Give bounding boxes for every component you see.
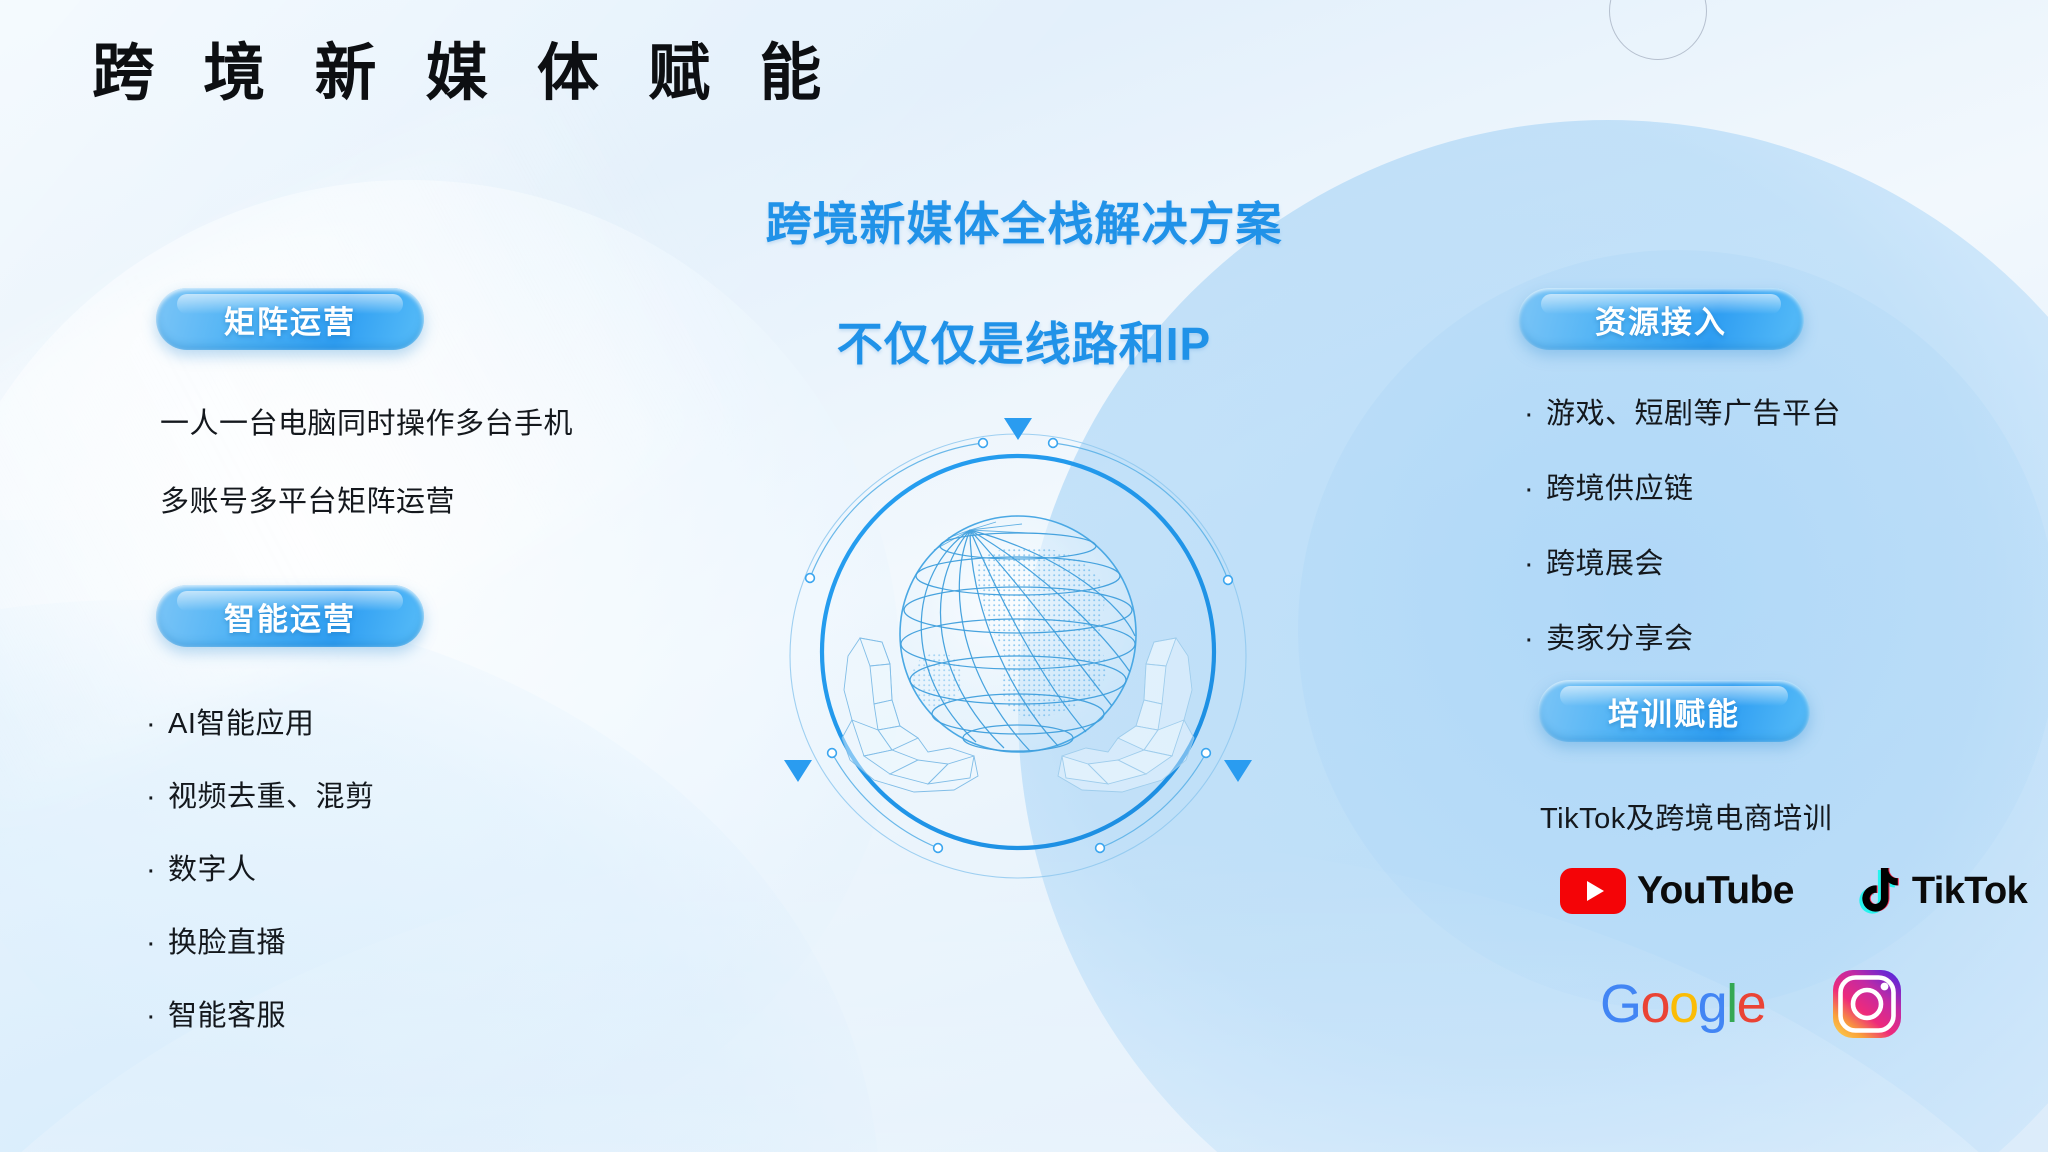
bullet-dot-icon: ·	[146, 856, 168, 885]
list-item: · 视频去重、混剪	[146, 773, 375, 815]
matrix-text-line-1: 一人一台电脑同时操作多台手机	[160, 400, 573, 442]
bullet-dot-icon: ·	[146, 1002, 168, 1031]
youtube-wordmark: YouTube	[1637, 869, 1794, 913]
list-item-label: 智能客服	[168, 992, 286, 1034]
resource-access-bullet-list: · 游戏、短剧等广告平台 · 跨境供应链 · 跨境展会 · 卖家分享会	[1524, 390, 1841, 690]
bullet-dot-icon: ·	[1524, 625, 1546, 654]
list-item: · 数字人	[146, 846, 375, 888]
bullet-dot-icon: ·	[146, 783, 168, 812]
training-text-line: TikTok及跨境电商培训	[1540, 795, 1832, 837]
bottom-left-arc	[0, 600, 880, 1152]
google-letter-4: g	[1698, 973, 1727, 1035]
list-item-label: 游戏、短剧等广告平台	[1546, 390, 1841, 432]
google-letter-5: l	[1726, 973, 1737, 1035]
list-item: · AI智能应用	[146, 700, 375, 742]
instagram-camera-icon	[1831, 968, 1903, 1040]
badge-training-empowerment[interactable]: 培训赋能	[1538, 680, 1810, 742]
badge-resource-access[interactable]: 资源接入	[1518, 288, 1804, 350]
brand-logo-row-top: YouTube TikTok	[1560, 866, 2027, 916]
list-item: · 换脸直播	[146, 919, 375, 961]
instagram-logo[interactable]	[1831, 968, 1903, 1040]
brand-logo-row-bottom: G o o g l e	[1600, 968, 1903, 1040]
youtube-logo[interactable]: YouTube	[1560, 868, 1794, 914]
list-item: · 跨境供应链	[1524, 465, 1841, 507]
youtube-play-icon	[1560, 868, 1626, 914]
bullet-dot-icon: ·	[1524, 550, 1546, 579]
list-item-label: 视频去重、混剪	[168, 773, 375, 815]
tiktok-logo[interactable]: TikTok	[1858, 866, 2027, 916]
bullet-dot-icon: ·	[146, 710, 168, 739]
bullet-dot-icon: ·	[1524, 400, 1546, 429]
google-letter-1: G	[1600, 973, 1641, 1035]
list-item: · 跨境展会	[1524, 540, 1841, 582]
list-item-label: 卖家分享会	[1546, 615, 1694, 657]
badge-label: 培训赋能	[1608, 689, 1740, 734]
decorative-ring-icon	[1609, 0, 1707, 60]
list-item-label: 跨境供应链	[1546, 465, 1694, 507]
slide-canvas: 跨 境 新 媒 体 赋 能 跨境新媒体全栈解决方案 不仅仅是线路和IP	[0, 0, 2048, 1152]
bullet-dot-icon: ·	[1524, 475, 1546, 504]
list-item-label: AI智能应用	[168, 700, 314, 742]
tiktok-wordmark: TikTok	[1912, 870, 2027, 913]
google-logo[interactable]: G o o g l e	[1600, 973, 1765, 1035]
google-letter-3: o	[1669, 973, 1698, 1035]
list-item-label: 数字人	[168, 846, 257, 888]
page-title: 跨 境 新 媒 体 赋 能	[92, 40, 837, 108]
list-item: · 智能客服	[146, 992, 375, 1034]
google-letter-2: o	[1641, 973, 1670, 1035]
center-heading-primary: 跨境新媒体全栈解决方案	[0, 188, 2048, 254]
list-item: · 游戏、短剧等广告平台	[1524, 390, 1841, 432]
smart-operations-bullet-list: · AI智能应用 · 视频去重、混剪 · 数字人 · 换脸直播 · 智能客服	[146, 700, 375, 1065]
tiktok-note-icon	[1858, 866, 1904, 916]
badge-smart-operations[interactable]: 智能运营	[156, 585, 424, 647]
matrix-text-line-2: 多账号多平台矩阵运营	[160, 478, 455, 520]
badge-matrix-operations[interactable]: 矩阵运营	[156, 288, 424, 350]
diagonal-light-streak	[0, 62, 761, 838]
badge-label: 智能运营	[224, 594, 356, 639]
google-letter-6: e	[1737, 973, 1766, 1035]
list-item: · 卖家分享会	[1524, 615, 1841, 657]
badge-label: 资源接入	[1595, 297, 1727, 342]
bullet-dot-icon: ·	[146, 929, 168, 958]
badge-label: 矩阵运营	[224, 297, 356, 342]
wireframe-globe-in-hands-icon	[778, 408, 1258, 888]
list-item-label: 跨境展会	[1546, 540, 1664, 582]
list-item-label: 换脸直播	[168, 919, 286, 961]
